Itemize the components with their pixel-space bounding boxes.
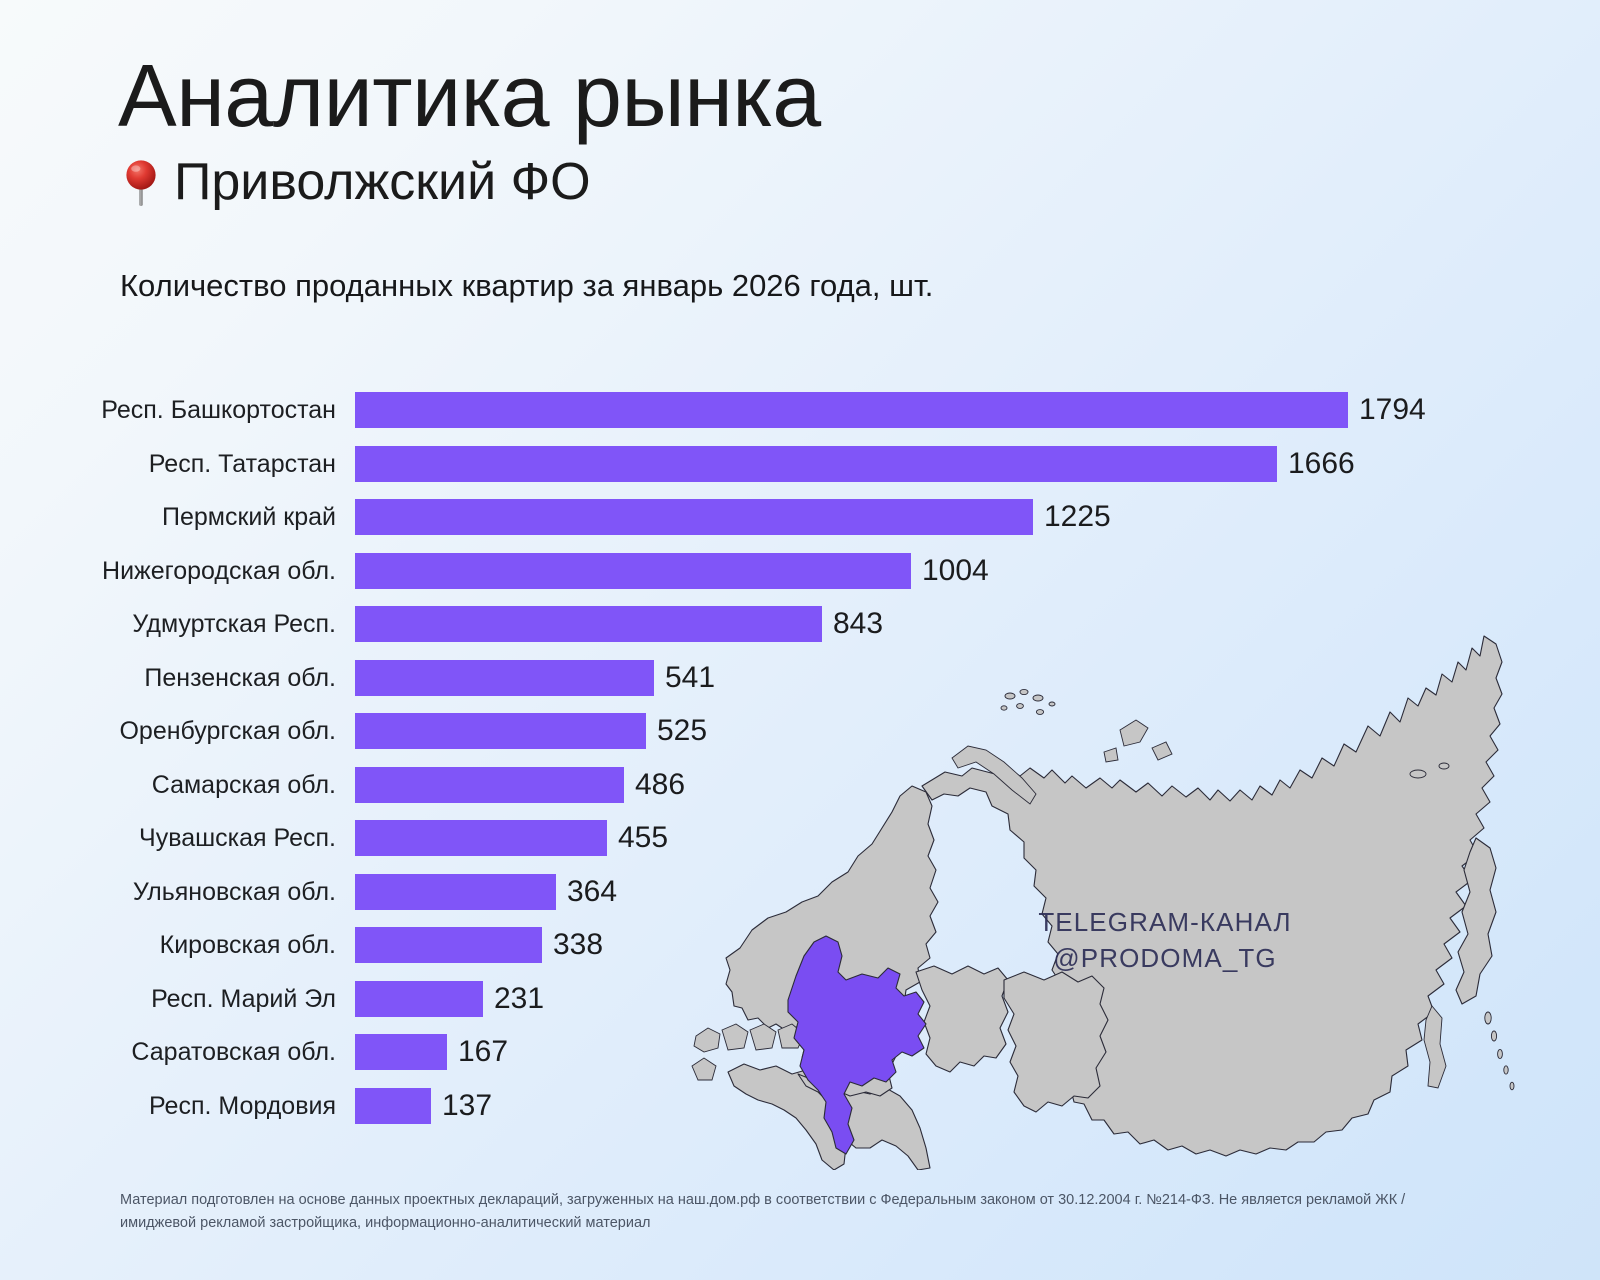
bar-chart: Респ. Башкортостан1794Респ. Татарстан166…	[0, 392, 1460, 1137]
bar-category-label: Нижегородская обл.	[0, 553, 336, 589]
bar-value-label: 1666	[1277, 446, 1355, 482]
bar-track	[355, 713, 646, 749]
map-island-kurils	[1485, 1012, 1514, 1090]
bar-row: Саратовская обл.167	[0, 1034, 1460, 1070]
bar-value-label: 338	[542, 927, 603, 963]
bar-category-label: Саратовская обл.	[0, 1034, 336, 1070]
bar-category-label: Респ. Мордовия	[0, 1088, 336, 1124]
bar-track	[355, 820, 607, 856]
bar-track	[355, 553, 911, 589]
map-land-kamchatka	[1456, 838, 1496, 1004]
bar-category-label: Респ. Татарстан	[0, 446, 336, 482]
bar-track	[355, 499, 1033, 535]
bar-row: Респ. Башкортостан1794	[0, 392, 1460, 428]
bar-track	[355, 981, 483, 1017]
bar-fill	[355, 713, 646, 749]
bar-fill	[355, 820, 607, 856]
round-pushpin-icon	[118, 156, 164, 208]
bar-category-label: Пермский край	[0, 499, 336, 535]
bar-fill	[355, 606, 822, 642]
bar-row: Нижегородская обл.1004	[0, 553, 1460, 589]
bar-track	[355, 767, 624, 803]
footer-disclaimer: Материал подготовлен на основе данных пр…	[120, 1189, 1450, 1236]
bar-row: Пермский край1225	[0, 499, 1460, 535]
bar-row: Респ. Татарстан1666	[0, 446, 1460, 482]
region-label: Приволжский ФО	[174, 156, 591, 208]
bar-fill	[355, 553, 911, 589]
bar-row: Оренбургская обл.525	[0, 713, 1460, 749]
bar-row: Кировская обл.338	[0, 927, 1460, 963]
bar-track	[355, 1088, 431, 1124]
footer-line-1: Материал подготовлен на основе данных пр…	[120, 1189, 1450, 1212]
bar-category-label: Чувашская Респ.	[0, 820, 336, 856]
bar-value-label: 364	[556, 874, 617, 910]
bar-value-label: 455	[607, 820, 668, 856]
bar-fill	[355, 1034, 447, 1070]
bar-value-label: 1794	[1348, 392, 1426, 428]
bar-row: Ульяновская обл.364	[0, 874, 1460, 910]
bar-track	[355, 606, 822, 642]
bar-track	[355, 446, 1277, 482]
bar-row: Респ. Мордовия137	[0, 1088, 1460, 1124]
header: Аналитика рынка	[118, 52, 1318, 208]
bar-track	[355, 874, 556, 910]
bar-row: Пензенская обл.541	[0, 660, 1460, 696]
bar-row: Самарская обл.486	[0, 767, 1460, 803]
bar-value-label: 137	[431, 1088, 492, 1124]
bar-track	[355, 1034, 447, 1070]
bar-value-label: 486	[624, 767, 685, 803]
bar-row: Чувашская Респ.455	[0, 820, 1460, 856]
bar-category-label: Респ. Марий Эл	[0, 981, 336, 1017]
bar-fill	[355, 392, 1348, 428]
bar-category-label: Удмуртская Респ.	[0, 606, 336, 642]
bar-value-label: 167	[447, 1034, 508, 1070]
bar-category-label: Самарская обл.	[0, 767, 336, 803]
bar-fill	[355, 446, 1277, 482]
bar-value-label: 541	[654, 660, 715, 696]
bar-category-label: Кировская обл.	[0, 927, 336, 963]
bar-value-label: 231	[483, 981, 544, 1017]
bar-category-label: Ульяновская обл.	[0, 874, 336, 910]
bar-value-label: 1225	[1033, 499, 1111, 535]
bar-fill	[355, 981, 483, 1017]
bar-category-label: Респ. Башкортостан	[0, 392, 336, 428]
bar-fill	[355, 927, 542, 963]
bar-category-label: Оренбургская обл.	[0, 713, 336, 749]
bar-track	[355, 660, 654, 696]
page-title: Аналитика рынка	[118, 52, 1318, 140]
bar-fill	[355, 1088, 431, 1124]
bar-fill	[355, 499, 1033, 535]
bar-row: Респ. Марий Эл231	[0, 981, 1460, 1017]
bar-row: Удмуртская Респ.843	[0, 606, 1460, 642]
bar-track	[355, 392, 1348, 428]
chart-subtitle: Количество проданных квартир за январь 2…	[120, 268, 933, 304]
bar-value-label: 1004	[911, 553, 989, 589]
footer-line-2: имиджевой рекламой застройщика, информац…	[120, 1212, 1450, 1235]
bar-value-label: 843	[822, 606, 883, 642]
infographic-page: Аналитика рынка	[0, 0, 1600, 1280]
bar-track	[355, 927, 542, 963]
bar-category-label: Пензенская обл.	[0, 660, 336, 696]
bar-value-label: 525	[646, 713, 707, 749]
region-row: Приволжский ФО	[118, 156, 1318, 208]
bar-fill	[355, 660, 654, 696]
bar-fill	[355, 767, 624, 803]
bar-fill	[355, 874, 556, 910]
